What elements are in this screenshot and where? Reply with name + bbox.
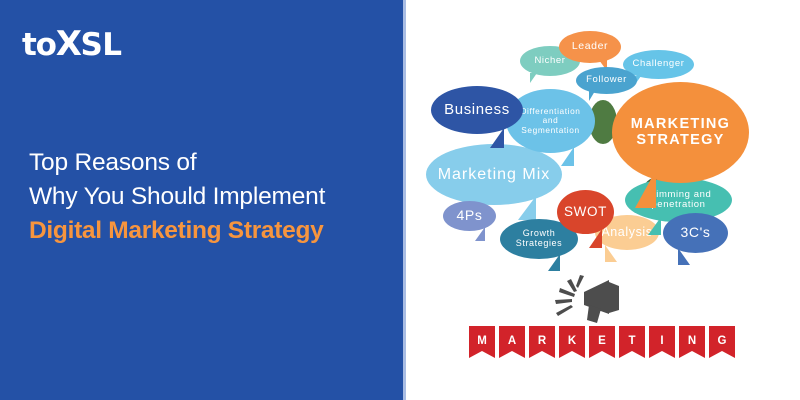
banner-letter: E [598, 335, 606, 347]
headline-block: Top Reasons of Why You Should Implement … [29, 146, 389, 248]
banner-flag: K [559, 326, 585, 358]
bubble-label-leader: Leader [568, 41, 612, 53]
bubble-business[interactable]: Business [431, 86, 523, 134]
banner-flag: N [679, 326, 705, 358]
banner-letter: N [688, 335, 696, 347]
bubble-label-challenger: Challenger [629, 59, 689, 69]
bubble-marketing-mix[interactable]: Marketing Mix [426, 144, 562, 205]
banner-letter: A [508, 335, 516, 347]
bubble-follower[interactable]: Follower [576, 67, 637, 94]
headline-line-1: Top Reasons of [29, 146, 389, 180]
bubble-label-nicher: Nicher [530, 56, 569, 66]
logo-text-x: X [56, 24, 81, 64]
banner-letter: M [477, 335, 487, 347]
growth-line-2: Strategies [516, 238, 563, 248]
banner-flag: R [529, 326, 555, 358]
bubble-leader[interactable]: Leader [559, 31, 621, 63]
bubble-label-marketing-strategy: MARKETING STRATEGY [627, 117, 735, 149]
bubble-differentiation-segmentation[interactable]: Differentiation and Segmentation [506, 89, 595, 153]
headline-line-2: Why You Should Implement [29, 180, 389, 214]
speech-bubble-illustration: Marketing Mix Business Nicher Leader Cha… [403, 0, 800, 400]
bubble-label-marketing-mix: Marketing Mix [434, 166, 555, 184]
bubble-marketing-strategy[interactable]: MARKETING STRATEGY [612, 82, 749, 183]
toxsl-logo[interactable]: toXSL [22, 27, 122, 61]
banner-flag: M [469, 326, 495, 358]
bubble-4ps[interactable]: 4Ps [443, 201, 496, 231]
logo-text-sl: SL [80, 27, 121, 63]
banner-flag: T [619, 326, 645, 358]
ms-line-1: MARKETING [631, 116, 731, 132]
skim-line-2: penetration [651, 199, 705, 210]
growth-line-1: Growth [523, 228, 556, 238]
ms-line-2: STRATEGY [636, 132, 724, 148]
poster-canvas: toXSL Top Reasons of Why You Should Impl… [0, 0, 800, 400]
marketing-banner: M A R K E T I N G [469, 326, 735, 358]
bubble-label-growth-strategies: Growth Strategies [512, 229, 567, 249]
banner-letter: T [628, 335, 635, 347]
megaphone-icon [553, 272, 623, 324]
bubble-label-4ps: 4Ps [453, 208, 487, 223]
diff-line-3: Segmentation [521, 125, 579, 135]
banner-letter: R [538, 335, 546, 347]
banner-flag: A [499, 326, 525, 358]
bubble-3cs[interactable]: 3C's [663, 213, 728, 253]
banner-flag: E [589, 326, 615, 358]
bubble-label-differentiation: Differentiation and Segmentation [516, 107, 584, 134]
bubble-label-3cs: 3C's [677, 225, 715, 240]
bubble-label-follower: Follower [582, 75, 631, 85]
banner-letter: G [718, 335, 727, 347]
logo-text-to: to [22, 27, 56, 63]
banner-flag: I [649, 326, 675, 358]
bubble-label-swot: SWOT [560, 205, 611, 220]
banner-letter: I [660, 335, 663, 347]
bubble-swot[interactable]: SWOT [557, 190, 614, 234]
headline-line-3-accent: Digital Marketing Strategy [29, 214, 389, 248]
banner-letter: K [568, 335, 576, 347]
banner-flag: G [709, 326, 735, 358]
bubble-label-business: Business [440, 102, 514, 119]
